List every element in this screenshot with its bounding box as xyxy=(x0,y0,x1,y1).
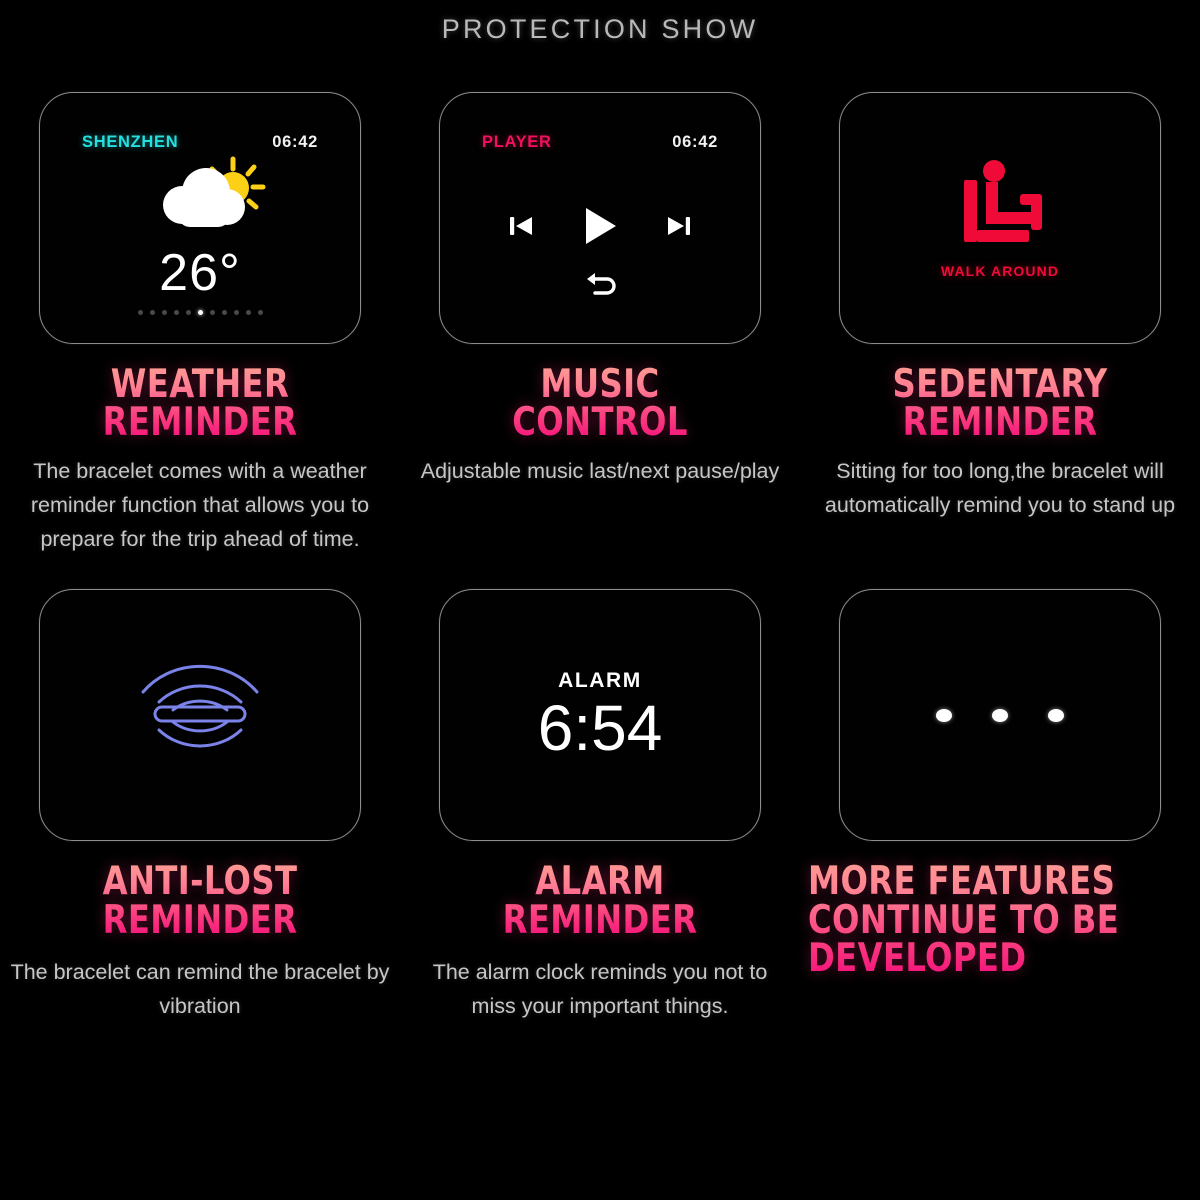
feature-heading-anti-lost: ANTI-LOST REMINDER xyxy=(23,863,376,939)
three-dots-icon xyxy=(840,590,1160,840)
watch-screen-sedentary[interactable]: WALK AROUND xyxy=(839,92,1161,344)
sun-behind-cloud-icon xyxy=(40,155,360,247)
weather-time-label: 06:42 xyxy=(272,133,318,152)
next-track-icon[interactable] xyxy=(664,212,694,245)
vibration-content xyxy=(40,590,360,840)
sedentary-content: WALK AROUND xyxy=(840,93,1160,343)
caption-more-features: MORE FEATURES CONTINUE TO BE DEVELOPED xyxy=(808,863,1192,978)
watch-screen-weather[interactable]: SHENZHEN 06:42 xyxy=(39,92,361,344)
heading-line: MUSIC xyxy=(423,366,776,404)
heading-line: WEATHER xyxy=(23,366,376,404)
watch-screen-alarm[interactable]: ALARM 6:54 xyxy=(439,589,761,841)
feature-description-weather: The bracelet comes with a weather remind… xyxy=(8,455,392,557)
page-title: PROTECTION SHOW xyxy=(0,14,1200,45)
alarm-content: ALARM 6:54 xyxy=(440,590,760,840)
feature-description-music: Adjustable music last/next pause/play xyxy=(408,455,792,489)
alarm-time: 6:54 xyxy=(538,695,663,762)
page-dot xyxy=(258,310,263,315)
page-indicator-dots[interactable] xyxy=(40,310,360,315)
heading-line: MORE FEATURES xyxy=(808,863,1161,901)
caption-sedentary: SEDENTARY REMINDER Sitting for too long,… xyxy=(808,366,1192,523)
heading-line: ALARM xyxy=(423,863,776,901)
caption-anti-lost: ANTI-LOST REMINDER The bracelet can remi… xyxy=(8,863,392,1023)
watch-screen-music[interactable]: PLAYER 06:42 xyxy=(439,92,761,344)
page-dot xyxy=(234,310,239,315)
feature-description-anti-lost: The bracelet can remind the bracelet by … xyxy=(8,956,392,1024)
feature-heading-weather: WEATHER REMINDER xyxy=(23,366,376,442)
feature-heading-more-features: MORE FEATURES CONTINUE TO BE DEVELOPED xyxy=(808,863,1161,978)
protection-show-page: PROTECTION SHOW SHENZHEN 06:42 xyxy=(0,0,1200,1200)
alarm-label: ALARM xyxy=(558,669,642,693)
page-dot xyxy=(162,310,167,315)
feature-heading-music: MUSIC CONTROL xyxy=(423,366,776,442)
ellipsis-dot xyxy=(992,709,1008,722)
heading-line: CONTROL xyxy=(423,404,776,442)
page-dot xyxy=(210,310,215,315)
seated-person-icon xyxy=(952,158,1048,255)
feature-heading-sedentary: SEDENTARY REMINDER xyxy=(823,366,1176,442)
watch-screen-more-features[interactable] xyxy=(839,589,1161,841)
feature-cell-alarm: ALARM 6:54 ALARM REMINDER The alarm cloc… xyxy=(400,557,800,1023)
heading-line: REMINDER xyxy=(23,404,376,442)
page-dot-active xyxy=(198,310,203,315)
caption-weather: WEATHER REMINDER The bracelet comes with… xyxy=(8,366,392,557)
page-dot xyxy=(246,310,251,315)
weather-status-row: SHENZHEN 06:42 xyxy=(40,133,360,152)
play-icon[interactable] xyxy=(580,205,620,252)
caption-alarm: ALARM REMINDER The alarm clock reminds y… xyxy=(408,863,792,1023)
feature-cell-music: PLAYER 06:42 xyxy=(400,92,800,557)
vibration-waves-icon xyxy=(125,650,275,781)
music-transport-controls xyxy=(440,205,760,252)
feature-cell-more-features: MORE FEATURES CONTINUE TO BE DEVELOPED xyxy=(800,557,1200,1023)
feature-cell-weather: SHENZHEN 06:42 xyxy=(0,92,400,557)
heading-line: ANTI-LOST xyxy=(23,863,376,901)
back-arrow-icon[interactable] xyxy=(583,271,617,302)
page-dot xyxy=(186,310,191,315)
heading-line: SEDENTARY xyxy=(823,366,1176,404)
player-time-label: 06:42 xyxy=(672,133,718,152)
player-status-row: PLAYER 06:42 xyxy=(440,133,760,152)
page-dot xyxy=(222,310,227,315)
previous-track-icon[interactable] xyxy=(506,212,536,245)
weather-city-label: SHENZHEN xyxy=(82,133,178,152)
caption-music: MUSIC CONTROL Adjustable music last/next… xyxy=(408,366,792,489)
heading-line: DEVELOPED xyxy=(808,940,1161,978)
ellipsis-dot xyxy=(936,709,952,722)
page-dot xyxy=(150,310,155,315)
watch-screen-anti-lost[interactable] xyxy=(39,589,361,841)
feature-heading-alarm: ALARM REMINDER xyxy=(423,863,776,939)
feature-grid: SHENZHEN 06:42 xyxy=(0,92,1200,1024)
music-back-row xyxy=(440,271,760,302)
feature-description-alarm: The alarm clock reminds you not to miss … xyxy=(408,956,792,1024)
page-dot xyxy=(174,310,179,315)
ellipsis-dot xyxy=(1048,709,1064,722)
heading-line: REMINDER xyxy=(23,902,376,940)
heading-line: CONTINUE TO BE xyxy=(808,902,1161,940)
sedentary-text: WALK AROUND xyxy=(941,263,1059,279)
heading-line: REMINDER xyxy=(423,902,776,940)
heading-line: REMINDER xyxy=(823,404,1176,442)
feature-cell-sedentary: WALK AROUND SEDENTARY REMINDER Sitting f… xyxy=(800,92,1200,557)
feature-cell-anti-lost: ANTI-LOST REMINDER The bracelet can remi… xyxy=(0,557,400,1023)
page-dot xyxy=(138,310,143,315)
player-label: PLAYER xyxy=(482,133,552,152)
weather-temperature: 26° xyxy=(40,243,360,303)
feature-description-sedentary: Sitting for too long,the bracelet will a… xyxy=(808,455,1192,523)
